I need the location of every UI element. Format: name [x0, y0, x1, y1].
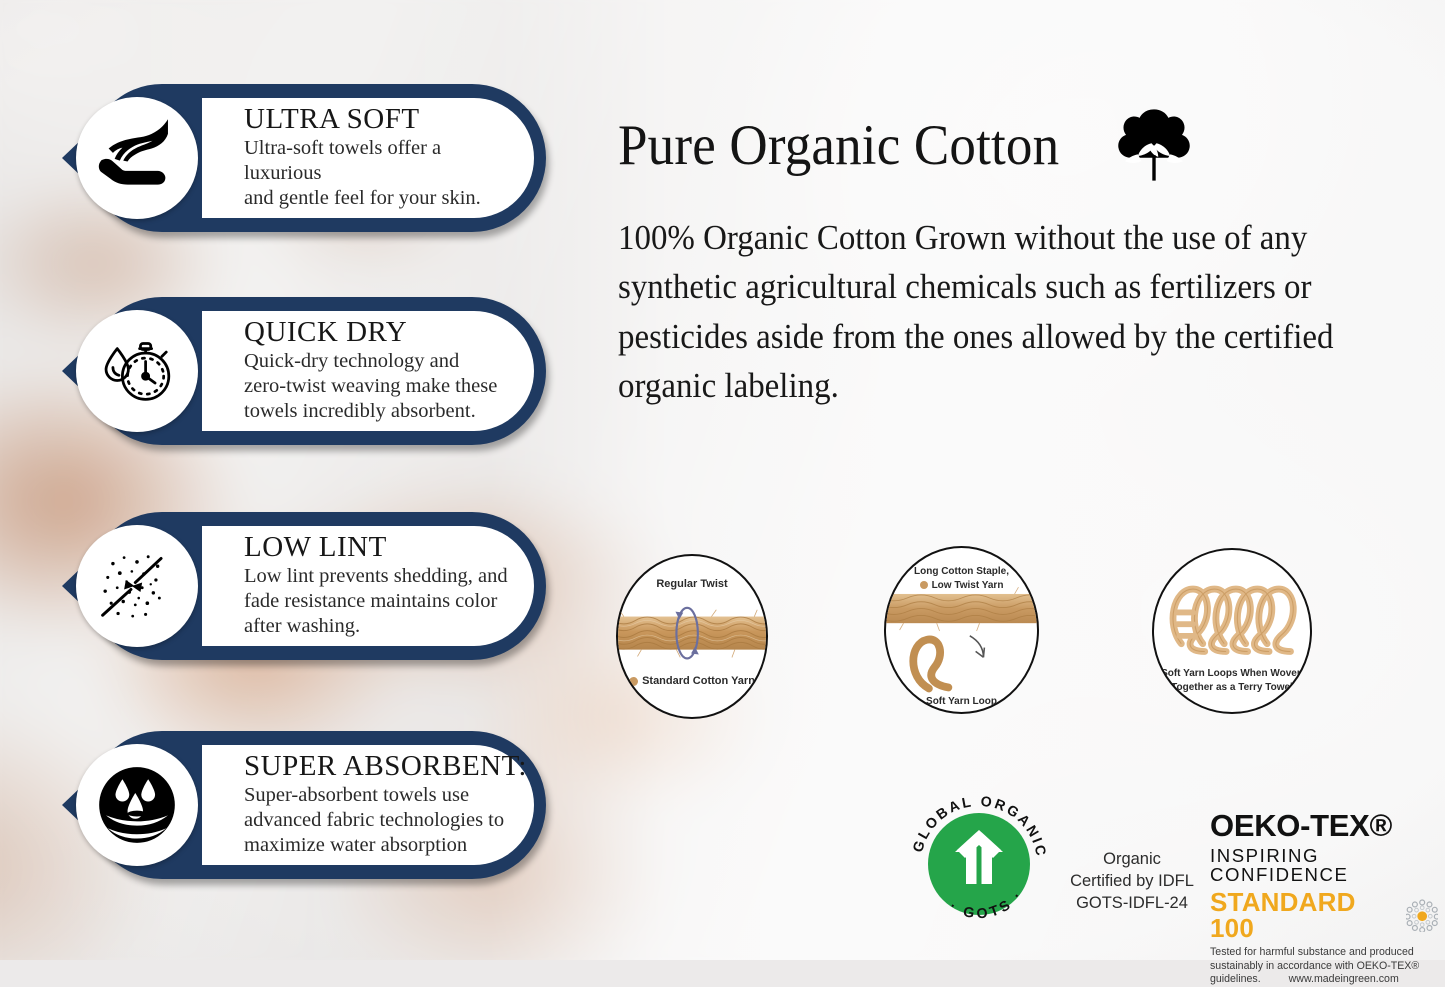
- card-text-panel: QUICK DRY Quick-dry technology and zero-…: [216, 311, 534, 431]
- oeko-tex-fine-print: Tested for harmful substance and produce…: [1210, 946, 1438, 987]
- feature-description-line: and gentle feel for your skin.: [244, 186, 512, 211]
- made-in-green-flower-icon: [1406, 898, 1438, 932]
- water-drops-fabric-layers-icon: [94, 762, 180, 848]
- yarn-bottom-label: Standard Cotton Yarn: [642, 675, 755, 687]
- oeko-fine-line1: Tested for harmful substance and produce…: [1210, 946, 1438, 960]
- feature-icon-circle: [76, 744, 198, 866]
- feature-card-low-lint: LOW LINT Low lint prevents shedding, and…: [62, 512, 546, 660]
- oeko-fine-line2: sustainably in accordance with OEKO-TEX®: [1210, 960, 1438, 974]
- feature-icon-circle: [76, 310, 198, 432]
- regular-twist-yarn-illustration: [618, 556, 766, 717]
- low-twist-yarn-illustration: [886, 548, 1037, 712]
- feature-description: Low lint prevents shedding, and fade res…: [244, 564, 512, 639]
- oeko-tex-url: www.madeingreen.com: [1289, 973, 1399, 985]
- gots-seal-icon: GLOBAL ORGANIC TEXTILE STANDARD · GOTS ·: [905, 790, 1053, 938]
- gots-certification-caption: Organic Certified by IDFL GOTS-IDFL-24: [1062, 848, 1202, 914]
- yarn-bullet-dot: [629, 677, 638, 686]
- feature-description-line: advanced fabric technologies to: [244, 808, 512, 833]
- card-text-panel: SUPER ABSORBENT: Super-absorbent towels …: [216, 745, 534, 865]
- oeko-fine-line3: guidelines.: [1210, 973, 1261, 985]
- oeko-tex-standard: STANDARD 100: [1210, 889, 1398, 941]
- headline-text: Pure Organic Cotton: [618, 113, 1059, 178]
- feature-description-line: maximize water absorption: [244, 833, 512, 858]
- feature-description-line: towels incredibly absorbent.: [244, 399, 512, 424]
- feature-title: LOW LINT: [244, 533, 512, 563]
- feature-title: ULTRA SOFT: [244, 105, 512, 135]
- yarn-bottom-label-row: Standard Cotton Yarn: [618, 675, 766, 688]
- feature-icon-circle: [76, 97, 198, 219]
- feature-description-line: after washing.: [244, 614, 512, 639]
- feature-card-quick-dry: QUICK DRY Quick-dry technology and zero-…: [62, 297, 546, 445]
- feature-description-line: Ultra-soft towels offer a luxurious: [244, 136, 512, 186]
- yarn-diagram-low-twist: Long Cotton Staple, Low Twist Yarn: [884, 546, 1039, 714]
- page-title: Pure Organic Cotton: [618, 106, 1197, 184]
- yarn-bottom-label-line2: Together as a Terry Towel: [1154, 682, 1310, 694]
- lint-particles-arrows-icon: [94, 543, 180, 629]
- feature-title: SUPER ABSORBENT:: [244, 752, 512, 782]
- gots-caption-line3: GOTS-IDFL-24: [1062, 892, 1202, 914]
- feature-description: Ultra-soft towels offer a luxurious and …: [244, 136, 512, 211]
- card-text-panel: LOW LINT Low lint prevents shedding, and…: [216, 526, 534, 646]
- yarn-diagram-regular-twist: Regular Twist: [616, 554, 768, 719]
- yarn-bottom-label-line1: Soft Yarn Loops When Woven: [1154, 668, 1310, 680]
- feature-description-line: fade resistance maintains color: [244, 589, 512, 614]
- oeko-tex-standard-row: STANDARD 100: [1210, 889, 1438, 941]
- feature-icon-circle: [76, 525, 198, 647]
- cotton-boll-icon: [1111, 106, 1197, 184]
- infographic-page: ULTRA SOFT Ultra-soft towels offer a lux…: [0, 0, 1445, 960]
- oeko-tex-subtitle: INSPIRING CONFIDENCE: [1210, 847, 1438, 884]
- feather-in-hand-icon: [94, 115, 180, 201]
- feature-description: Super-absorbent towels use advanced fabr…: [244, 783, 512, 858]
- feature-description-line: zero-twist weaving make these: [244, 374, 512, 399]
- feature-description: Quick-dry technology and zero-twist weav…: [244, 349, 512, 424]
- feature-card-ultra-soft: ULTRA SOFT Ultra-soft towels offer a lux…: [62, 84, 546, 232]
- stopwatch-water-drop-icon: [94, 328, 180, 414]
- feature-description-line: Super-absorbent towels use: [244, 783, 512, 808]
- oeko-fine-line3-row: guidelines.www.madeingreen.com: [1210, 973, 1438, 987]
- card-text-panel: ULTRA SOFT Ultra-soft towels offer a lux…: [216, 98, 534, 218]
- yarn-diagram-terry-loops: Soft Yarn Loops When Woven Together as a…: [1152, 548, 1312, 714]
- oeko-tex-title: OEKO-TEX®: [1210, 810, 1438, 841]
- gots-caption-line2: Certified by IDFL: [1062, 870, 1202, 892]
- feature-description-line: Low lint prevents shedding, and: [244, 564, 512, 589]
- feature-card-super-absorbent: SUPER ABSORBENT: Super-absorbent towels …: [62, 731, 546, 879]
- feature-description-line: Quick-dry technology and: [244, 349, 512, 374]
- feature-title: QUICK DRY: [244, 318, 512, 348]
- description-paragraph: 100% Organic Cotton Grown without the us…: [618, 214, 1382, 411]
- oeko-tex-certification: OEKO-TEX® INSPIRING CONFIDENCE STANDARD …: [1210, 810, 1438, 987]
- gots-caption-line1: Organic: [1062, 848, 1202, 870]
- yarn-bottom-label: Soft Yarn Loop: [886, 696, 1037, 708]
